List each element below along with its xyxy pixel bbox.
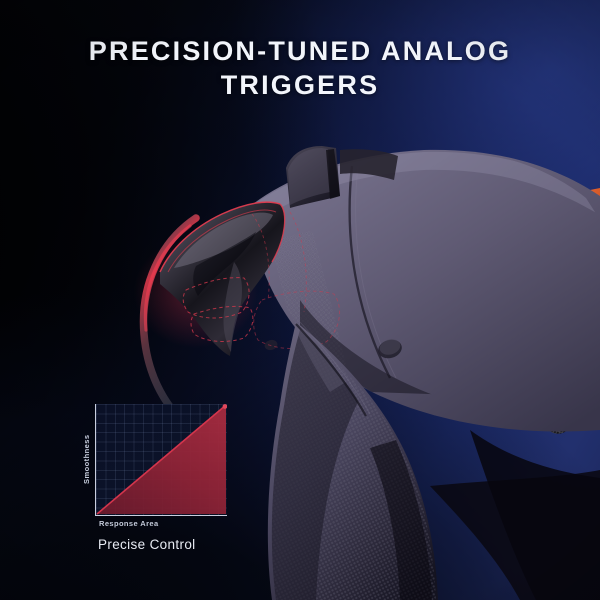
chart-marker-svg	[96, 404, 227, 515]
chart-endpoint-marker	[223, 404, 227, 409]
headline-line-1: PRECISION-TUNED ANALOG	[0, 34, 600, 68]
chart-plot-area	[95, 404, 227, 516]
promo-banner: PRECISION-TUNED ANALOG TRIGGERS Smoothne…	[0, 0, 600, 600]
response-curve-chart: Smoothness Resp	[82, 404, 242, 552]
headline-line-2: TRIGGERS	[0, 68, 600, 102]
chart-y-axis-label: Smoothness	[82, 404, 95, 516]
chart-x-axis-label: Response Area	[95, 519, 242, 528]
chart-plot-row: Smoothness	[82, 404, 242, 516]
page-title: PRECISION-TUNED ANALOG TRIGGERS	[0, 34, 600, 102]
chart-caption: Precise Control	[95, 537, 242, 552]
